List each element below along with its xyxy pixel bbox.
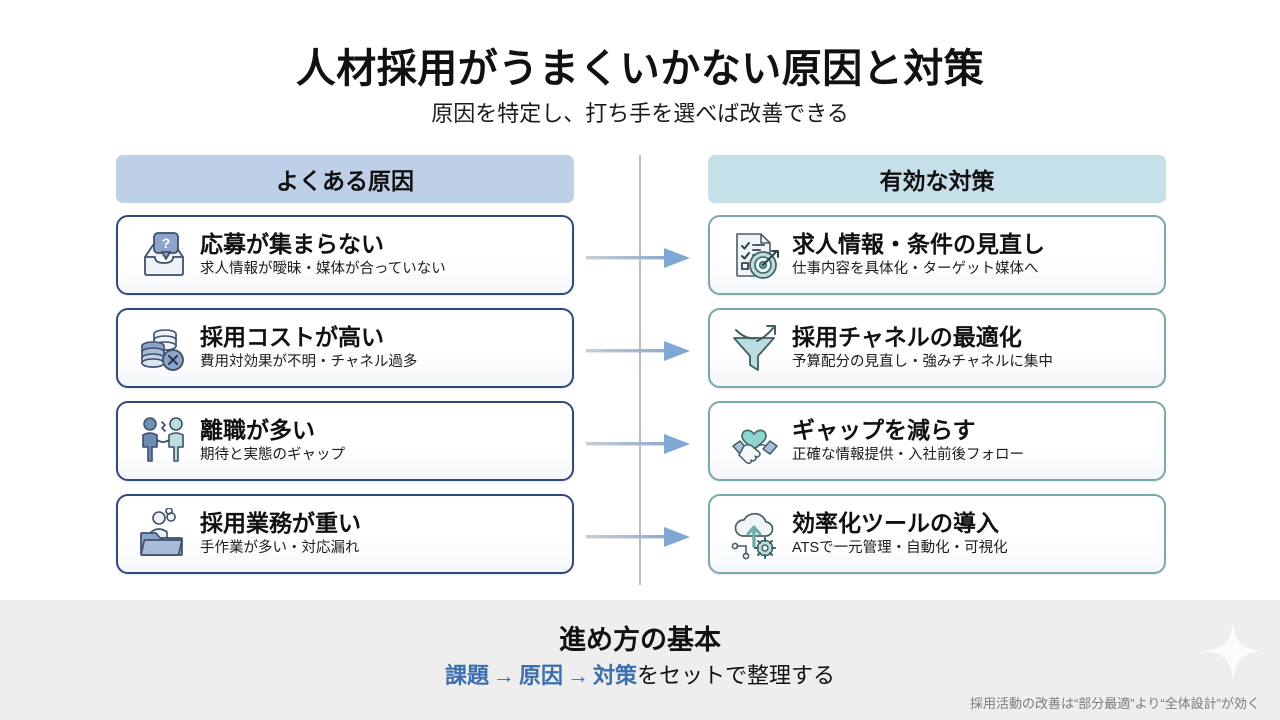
measure-card-list: 求人情報・条件の見直し 仕事内容を具体化・ターゲット媒体へ 採用チャネルの最適化… (708, 215, 1166, 574)
folder-overworked-person-icon (132, 505, 194, 563)
cause-card[interactable]: 採用業務が重い 手作業が多い・対応漏れ (116, 494, 574, 574)
footer-band: 進め方の基本 課題→原因→対策をセットで整理する 採用活動の改善は“部分最適”よ… (0, 600, 1280, 720)
cause-card-title: 離職が多い (200, 418, 345, 444)
measure-card-title: 採用チャネルの最適化 (792, 325, 1053, 351)
measure-card-title: ギャップを減らす (792, 418, 1024, 444)
coins-cross-icon (132, 319, 194, 377)
measure-card-sub: 予算配分の見直し・強みチャネルに集中 (792, 354, 1053, 371)
slide-root: 人材採用がうまくいかない原因と対策 原因を特定し、打ち手を選べば改善できる よく… (0, 0, 1280, 720)
connector-arrow (586, 431, 698, 457)
cause-card-title: 応募が集まらない (200, 232, 446, 258)
cause-card[interactable]: ? 応募が集まらない 求人情報が曖昧・媒体が合っていない (116, 215, 574, 295)
cause-card[interactable]: 採用コストが高い 費用対効果が不明・チャネル過多 (116, 308, 574, 388)
footer-title: 進め方の基本 (0, 618, 1280, 657)
column-divider (639, 155, 641, 585)
cause-card-sub: 求人情報が曖昧・媒体が合っていない (200, 261, 446, 278)
cause-card-sub: 期待と実態のギャップ (200, 447, 345, 464)
connector-arrow (586, 245, 698, 271)
flow-step-issue: 課題 (445, 663, 489, 688)
page-subtitle: 原因を特定し、打ち手を選べば改善できる (0, 96, 1280, 128)
connector-arrow (586, 338, 698, 364)
inbox-question-icon: ? (132, 226, 194, 284)
measure-card-sub: 仕事内容を具体化・ターゲット媒体へ (792, 261, 1045, 278)
measure-card-text: 求人情報・条件の見直し 仕事内容を具体化・ターゲット媒体へ (792, 232, 1045, 277)
measure-card-title: 求人情報・条件の見直し (792, 232, 1045, 258)
measure-card[interactable]: 効率化ツールの導入 ATSで一元管理・自動化・可視化 (708, 494, 1166, 574)
measure-card-text: 採用チャネルの最適化 予算配分の見直し・強みチャネルに集中 (792, 325, 1053, 370)
two-people-conflict-icon (132, 412, 194, 470)
cause-card-sub: 費用対効果が不明・チャネル過多 (200, 354, 417, 371)
flow-step-cause: 原因 (519, 663, 563, 688)
measure-card[interactable]: 採用チャネルの最適化 予算配分の見直し・強みチャネルに集中 (708, 308, 1166, 388)
cause-card-text: 採用コストが高い 費用対効果が不明・チャネル過多 (200, 325, 417, 370)
cause-card-list: ? 応募が集まらない 求人情報が曖昧・媒体が合っていない (116, 215, 574, 574)
measure-card-sub: 正確な情報提供・入社前後フォロー (792, 447, 1024, 464)
cause-card[interactable]: 離職が多い 期待と実態のギャップ (116, 401, 574, 481)
page-title: 人材採用がうまくいかない原因と対策 (0, 36, 1280, 94)
measure-card-text: ギャップを減らす 正確な情報提供・入社前後フォロー (792, 418, 1024, 463)
connector-arrow (586, 524, 698, 550)
column-measures: 有効な対策 (708, 155, 1166, 587)
svg-text:?: ? (162, 235, 171, 251)
footer-flow: 課題→原因→対策をセットで整理する (0, 658, 1280, 690)
cause-card-title: 採用業務が重い (200, 511, 361, 537)
flow-arrow-2: → (563, 663, 593, 688)
measure-card[interactable]: 求人情報・条件の見直し 仕事内容を具体化・ターゲット媒体へ (708, 215, 1166, 295)
column-causes: よくある原因 ? 応募が集まらない 求人情報が曖昧・媒体が合っていない (116, 155, 574, 587)
funnel-icon (724, 319, 786, 377)
cloud-upload-gear-icon (724, 505, 786, 563)
checklist-target-icon (724, 226, 786, 284)
footer-note: 採用活動の改善は“部分最適”より“全体設計”が効く (970, 693, 1260, 712)
flow-arrow-1: → (489, 663, 519, 688)
measure-card[interactable]: ギャップを減らす 正確な情報提供・入社前後フォロー (708, 401, 1166, 481)
column-header-measures: 有効な対策 (708, 155, 1166, 203)
cause-card-text: 離職が多い 期待と実態のギャップ (200, 418, 345, 463)
flow-step-measure: 対策 (593, 663, 637, 688)
handshake-heart-icon (724, 412, 786, 470)
column-header-causes: よくある原因 (116, 155, 574, 203)
measure-card-sub: ATSで一元管理・自動化・可視化 (792, 540, 1008, 557)
cause-card-text: 応募が集まらない 求人情報が曖昧・媒体が合っていない (200, 232, 446, 277)
flow-tail-text: をセットで整理する (637, 663, 835, 688)
measure-card-text: 効率化ツールの導入 ATSで一元管理・自動化・可視化 (792, 511, 1008, 556)
cause-card-sub: 手作業が多い・対応漏れ (200, 540, 361, 557)
cause-card-title: 採用コストが高い (200, 325, 417, 351)
cause-card-text: 採用業務が重い 手作業が多い・対応漏れ (200, 511, 361, 556)
measure-card-title: 効率化ツールの導入 (792, 511, 1008, 537)
